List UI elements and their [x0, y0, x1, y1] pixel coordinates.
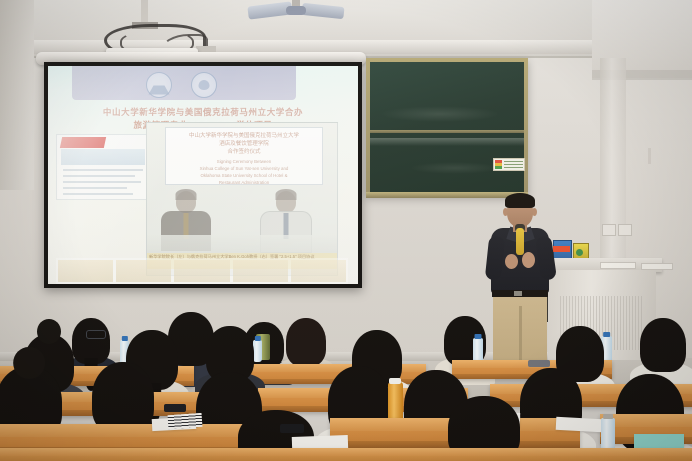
projection-screen-surface: 中山大学新华学院与美国俄克拉荷马州立大学合办 旅游管理专业 "2.5+1.5" … — [48, 66, 358, 284]
filmstrip-thumbnail — [233, 260, 288, 282]
presenter-belt-buckle — [514, 291, 522, 296]
ceremony-backdrop-board: 中山大学新华学院与美国俄克拉荷马州立大学 酒店及餐饮管理学院 合作签约仪式 Si… — [165, 127, 323, 185]
remote-control[interactable] — [600, 262, 636, 269]
slide-news-clipping — [56, 134, 150, 200]
clipping-ribbon — [60, 137, 106, 148]
juice-bottle[interactable] — [388, 382, 403, 422]
filmstrip-thumbnail — [58, 260, 113, 282]
chalkboard — [366, 58, 528, 196]
presenter-hair — [505, 193, 535, 208]
smartphone[interactable] — [280, 424, 304, 433]
student — [72, 318, 110, 364]
desk-row-4 — [0, 448, 692, 461]
lecture-hall-photo: 中山大学新华学院与美国俄克拉荷马州立大学合办 旅游管理专业 "2.5+1.5" … — [0, 0, 692, 461]
ceremony-cn-line3: 合作签约仪式 — [166, 148, 322, 156]
ceremony-en-line3: Oklahoma State University School of Hote… — [166, 172, 322, 179]
chalk-dust-upper — [380, 106, 500, 122]
slide-banner — [72, 66, 296, 100]
presenter-leg-seam — [519, 306, 522, 362]
wall-left-return — [0, 0, 34, 190]
student — [640, 318, 686, 372]
filmstrip-thumbnail — [291, 260, 346, 282]
ceremony-cn-line2: 酒店及餐饮管理学院 — [166, 140, 322, 148]
presenter-hand-right — [522, 252, 535, 268]
water-bottle[interactable] — [253, 340, 262, 362]
chalkboard-chalk-rail — [366, 192, 528, 198]
student — [286, 318, 326, 366]
clipping-photo — [61, 149, 145, 165]
chalkboard-divider — [370, 130, 524, 133]
chalk-dust-band — [370, 138, 524, 146]
university-seal-sun-yat-sen-icon — [146, 72, 172, 98]
smartphone[interactable] — [164, 404, 186, 412]
juice-bottle-cap — [389, 378, 401, 384]
presenter-hand-left — [505, 254, 518, 269]
slide-inner-photo: 中山大学新华学院与美国俄克拉荷马州立大学 酒店及餐饮管理学院 合作签约仪式 Si… — [146, 122, 338, 276]
open-notebook[interactable] — [168, 413, 203, 429]
label-text-lines — [504, 161, 523, 169]
wall-outlet[interactable] — [602, 224, 616, 236]
university-seal-oklahoma-state-icon — [191, 72, 217, 98]
label-logo-icon — [495, 160, 502, 169]
classroom-equipment-label — [493, 158, 525, 171]
ceremony-cn-line1: 中山大学新华学院与美国俄克拉荷马州立大学 — [166, 132, 322, 140]
slide-title-line1: 中山大学新华学院与美国俄克拉荷马州立大学合办 — [62, 106, 344, 119]
ceremony-backdrop-english-text: Signing Ceremony Between Xinhua College … — [166, 158, 322, 186]
eyeglasses — [86, 330, 106, 339]
ceiling-fan-hub — [286, 6, 306, 15]
wall-outlet[interactable] — [618, 224, 632, 236]
yellow-box-graphic — [576, 249, 583, 256]
chalkboard-surface — [370, 62, 524, 192]
ceremony-en-line1: Signing Ceremony Between — [166, 158, 322, 165]
ceremony-en-line4: Restaurant Administration — [166, 179, 322, 186]
microphone[interactable] — [516, 228, 524, 255]
smartphone[interactable] — [528, 360, 550, 367]
slide-filmstrip — [56, 258, 348, 284]
wall-scuff — [648, 148, 651, 164]
notebook-page[interactable] — [556, 417, 603, 432]
chalk-dust-lower — [410, 162, 500, 174]
ceremony-table — [147, 235, 337, 253]
paper-slip[interactable] — [641, 263, 673, 270]
ceremony-en-line2: Xinhua College of Sun Yat-sen University… — [166, 165, 322, 172]
ceremony-backdrop-chinese-text: 中山大学新华学院与美国俄克拉荷马州立大学 酒店及餐饮管理学院 合作签约仪式 — [166, 132, 322, 156]
filmstrip-thumbnail — [116, 260, 171, 282]
projection-screen: 中山大学新华学院与美国俄克拉荷马州立大学合办 旅游管理专业 "2.5+1.5" … — [44, 62, 362, 288]
filmstrip-thumbnail — [174, 260, 229, 282]
blue-box-band — [553, 246, 570, 252]
